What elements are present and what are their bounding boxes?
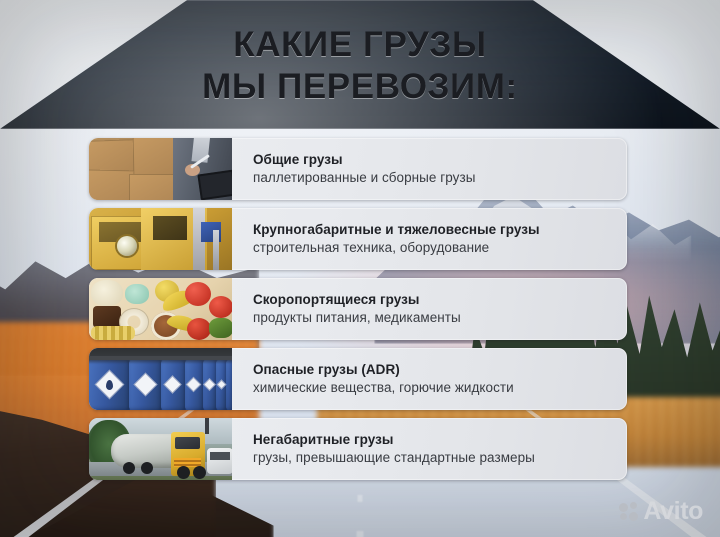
headline-line-2: МЫ ПЕРЕВОЗИМ: [0, 66, 720, 108]
list-item-subtitle: строительная техника, оборудование [253, 239, 613, 257]
list-item-text: Негабаритные грузы грузы, превышающие ст… [232, 418, 627, 480]
list-item-title: Скоропортящиеся грузы [253, 291, 613, 309]
list-item[interactable]: Негабаритные грузы грузы, превышающие ст… [89, 418, 627, 480]
list-item[interactable]: Крупногабаритные и тяжеловесные грузы ст… [89, 208, 627, 270]
list-item-title: Общие грузы [253, 151, 613, 169]
list-item-text: Опасные грузы (ADR) химические вещества,… [232, 348, 627, 410]
list-item-title: Негабаритные грузы [253, 431, 613, 449]
blue-adr-hazard-drums-photo [89, 348, 232, 410]
list-item-title: Опасные грузы (ADR) [253, 361, 613, 379]
list-item-subtitle: продукты питания, медикаменты [253, 309, 613, 327]
avito-dots-logo [619, 502, 638, 521]
avito-wordmark: Avito [643, 499, 703, 524]
page-title: КАКИЕ ГРУЗЫ МЫ ПЕРЕВОЗИМ: [0, 24, 720, 108]
avito-watermark: Avito [619, 499, 703, 524]
promo-poster: КАКИЕ ГРУЗЫ МЫ ПЕРЕВОЗИМ: Общие грузы па… [0, 0, 720, 537]
list-item-subtitle: грузы, превышающие стандартные размеры [253, 449, 613, 467]
headline-line-1: КАКИЕ ГРУЗЫ [0, 24, 720, 66]
list-item-text: Общие грузы паллетированные и сборные гр… [232, 138, 627, 200]
oversize-load-truck-photo [89, 418, 232, 480]
yellow-heavy-machinery-photo [89, 208, 232, 270]
list-item-title: Крупногабаритные и тяжеловесные грузы [253, 221, 613, 239]
cardboard-boxes-with-inspector-photo [89, 138, 232, 200]
cargo-type-list: Общие грузы паллетированные и сборные гр… [89, 138, 627, 480]
list-item-text: Скоропортящиеся грузы продукты питания, … [232, 278, 627, 340]
list-item[interactable]: Скоропортящиеся грузы продукты питания, … [89, 278, 627, 340]
list-item[interactable]: Общие грузы паллетированные и сборные гр… [89, 138, 627, 200]
list-item-subtitle: химические вещества, горючие жидкости [253, 379, 613, 397]
list-item[interactable]: Опасные грузы (ADR) химические вещества,… [89, 348, 627, 410]
list-item-text: Крупногабаритные и тяжеловесные грузы ст… [232, 208, 627, 270]
fresh-fruit-and-vegetables-photo [89, 278, 232, 340]
list-item-subtitle: паллетированные и сборные грузы [253, 169, 613, 187]
